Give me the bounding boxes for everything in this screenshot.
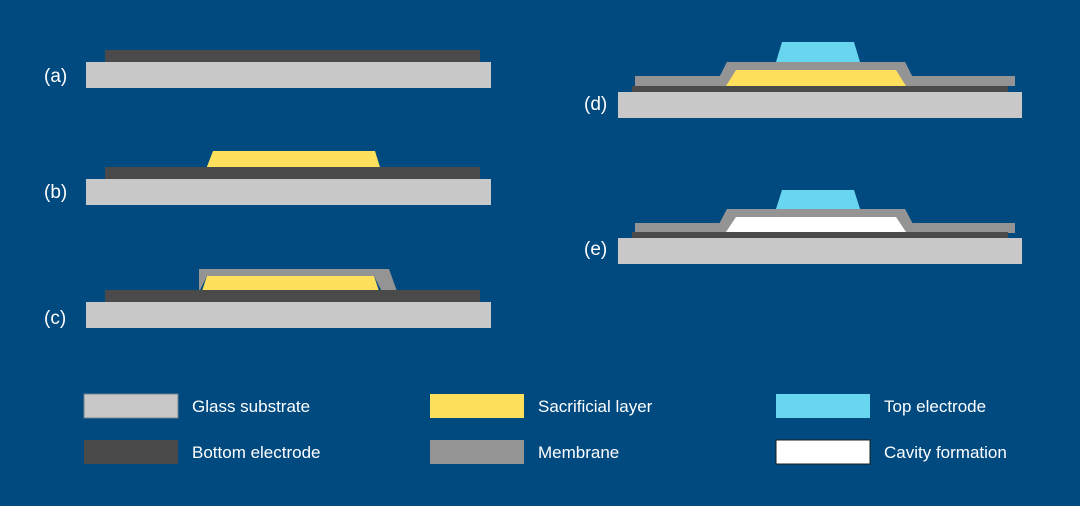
panel-a-bottom-electrode: [105, 50, 480, 62]
legend-item-glass-substrate: Glass substrate: [84, 394, 310, 418]
panel-b-glass-substrate: [86, 179, 491, 205]
legend-label-top-electrode: Top electrode: [884, 397, 986, 416]
panel-d-glass-substrate: [618, 92, 1022, 118]
panel-e-label: (e): [584, 239, 607, 260]
legend-swatch-sacrificial-layer: [430, 394, 524, 418]
legend-label-sacrificial-layer: Sacrificial layer: [538, 397, 653, 416]
panel-b-label: (b): [44, 182, 67, 203]
legend-swatch-top-electrode: [776, 394, 870, 418]
figure-canvas: (a) (b) (c) (d) (e): [0, 0, 1080, 506]
panel-d-sacrificial-fill: [726, 70, 906, 86]
legend-swatch-bottom-electrode: [84, 440, 178, 464]
legend-swatch-cavity-formation: [776, 440, 870, 464]
panel-a-label: (a): [44, 66, 67, 87]
panel-a: (a): [44, 50, 491, 88]
panel-e-glass-substrate: [618, 238, 1022, 264]
panel-d-label: (d): [584, 94, 607, 115]
panel-c-bottom-electrode: [105, 290, 480, 302]
panel-a-glass-substrate: [86, 62, 491, 88]
legend-swatch-membrane: [430, 440, 524, 464]
legend-item-sacrificial-layer: Sacrificial layer: [430, 394, 653, 418]
legend-item-bottom-electrode: Bottom electrode: [84, 440, 321, 464]
legend-label-bottom-electrode: Bottom electrode: [192, 443, 321, 462]
legend-swatch-glass-substrate: [84, 394, 178, 418]
panel-b-bottom-electrode: [105, 167, 480, 179]
process-flow-diagram: (a) (b) (c) (d) (e): [0, 0, 1080, 506]
legend-label-glass-substrate: Glass substrate: [192, 397, 310, 416]
legend-item-cavity-formation: Cavity formation: [776, 440, 1007, 464]
panel-d-top-electrode: [776, 42, 860, 62]
panel-c-label: (c): [44, 308, 66, 329]
legend-label-cavity-formation: Cavity formation: [884, 443, 1007, 462]
legend-label-membrane: Membrane: [538, 443, 619, 462]
panel-e-cavity-fill: [726, 217, 906, 232]
panel-c-glass-substrate: [86, 302, 491, 328]
panel-e-top-electrode: [776, 190, 860, 209]
